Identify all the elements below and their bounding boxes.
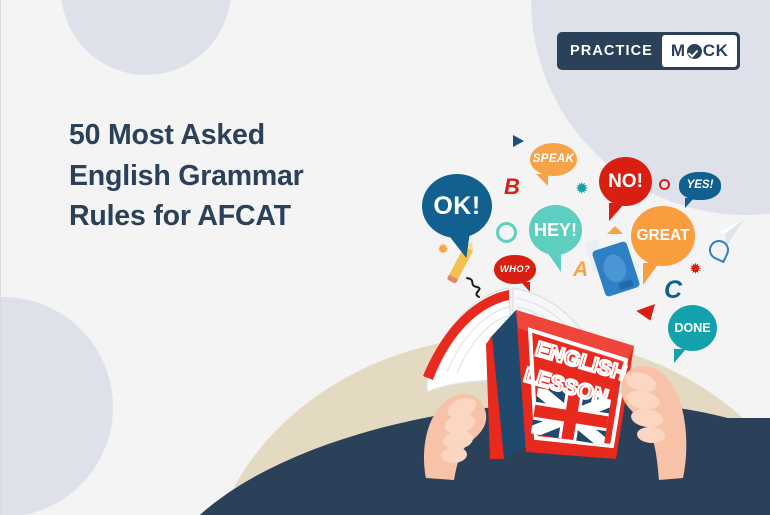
speech-bubble-ok-label: OK!: [433, 194, 480, 219]
speech-bubble-yes: YES!: [679, 172, 721, 200]
speech-bubble-ok-tail: [444, 234, 469, 258]
circle-outline-red-icon: [659, 179, 670, 190]
speech-bubble-who-label: WHO?: [500, 265, 530, 275]
speech-bubble-speak: SPEAK: [530, 143, 577, 176]
circle-outline-teal-icon: [496, 222, 517, 243]
speech-bubble-hey: HEY!: [529, 205, 582, 255]
speech-bubble-no: NO!: [599, 157, 652, 206]
triangle-orange-icon: [607, 226, 623, 234]
speech-bubble-great-tail: [643, 263, 659, 285]
speech-bubble-who: WHO?: [494, 255, 536, 284]
speech-bubble-speak-tail: [536, 174, 548, 186]
speech-bubble-speak-label: SPEAK: [533, 154, 575, 166]
english-lesson-illustration: ✹ ✹ ✹ B A C: [1, 0, 770, 515]
speech-bubble-no-tail: [609, 203, 625, 221]
star-teal-icon: ✹: [576, 181, 588, 195]
speech-bubble-hey-label: HEY!: [534, 221, 577, 239]
speech-bubble-yes-label: YES!: [687, 180, 714, 192]
star-red-icon: ✹: [690, 262, 701, 275]
floating-letter-b: B: [504, 176, 520, 198]
triangle-navy-icon: [513, 135, 524, 147]
floating-letter-c: C: [664, 278, 682, 303]
speech-bubble-who-tail: [521, 282, 530, 292]
speech-bubble-done: DONE: [668, 305, 717, 351]
hand-left: [416, 360, 511, 480]
speech-bubble-hey-tail: [547, 252, 561, 272]
banner-canvas: PRACTICE MCK 50 Most Asked English Gramm…: [0, 0, 770, 515]
speech-bubble-no-label: NO!: [608, 172, 643, 191]
speech-bubble-done-label: DONE: [674, 322, 710, 335]
speech-bubble-great-label: GREAT: [636, 228, 689, 244]
speech-bubble-done-tail: [674, 349, 686, 363]
speech-bubble-yes-tail: [685, 198, 694, 208]
speech-bubble-great: GREAT: [631, 206, 695, 266]
speech-bubble-ok: OK!: [422, 174, 492, 238]
